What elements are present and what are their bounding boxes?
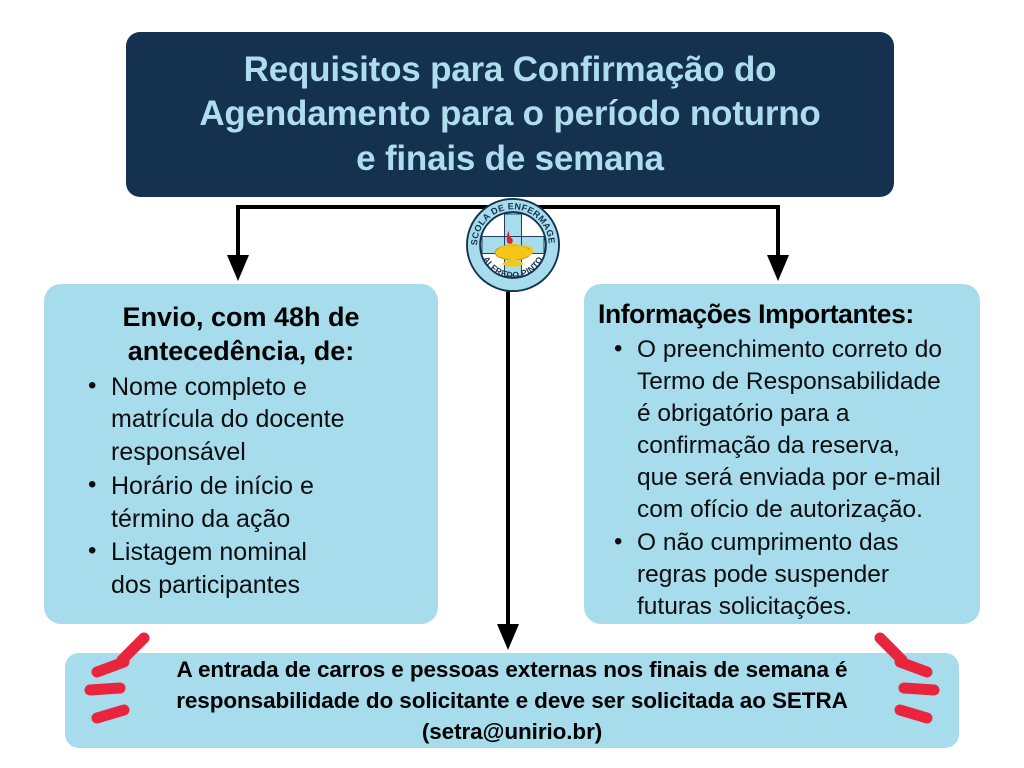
arrowhead-center: [497, 624, 519, 650]
arrowhead-right: [767, 255, 789, 281]
list-item: Listagem nominal dos participantes: [80, 536, 422, 602]
bottom-notice-banner: A entrada de carros e pessoas externas n…: [65, 653, 959, 748]
bottom-notice-text: A entrada de carros e pessoas externas n…: [106, 654, 918, 747]
right-box-bullet-list: O preenchimento correto do Termo de Resp…: [598, 334, 968, 624]
requirements-box-left: Envio, com 48h de antecedência, de: Nome…: [44, 284, 438, 624]
list-item: Horário de início e término da ação: [80, 470, 422, 536]
title-banner: Requisitos para Confirmação do Agendamen…: [126, 32, 894, 197]
list-item: O não cumprimento das regras pode suspen…: [606, 527, 968, 623]
list-item: Nome completo e matrícula do docente res…: [80, 371, 422, 469]
important-info-box-right: Informações Importantes: O preenchimento…: [584, 284, 980, 624]
right-box-heading: Informações Importantes:: [598, 298, 968, 332]
left-box-bullet-list: Nome completo e matrícula do docente res…: [60, 371, 422, 602]
list-item: O preenchimento correto do Termo de Resp…: [606, 334, 968, 527]
left-box-heading: Envio, com 48h de antecedência, de:: [60, 300, 422, 369]
page-title: Requisitos para Confirmação do Agendamen…: [181, 48, 838, 180]
escola-de-enfermagem-logo-icon: ESCOLA DE ENFERMAGEM ALFREDO PINTO: [466, 198, 560, 292]
arrowhead-left: [227, 255, 249, 281]
